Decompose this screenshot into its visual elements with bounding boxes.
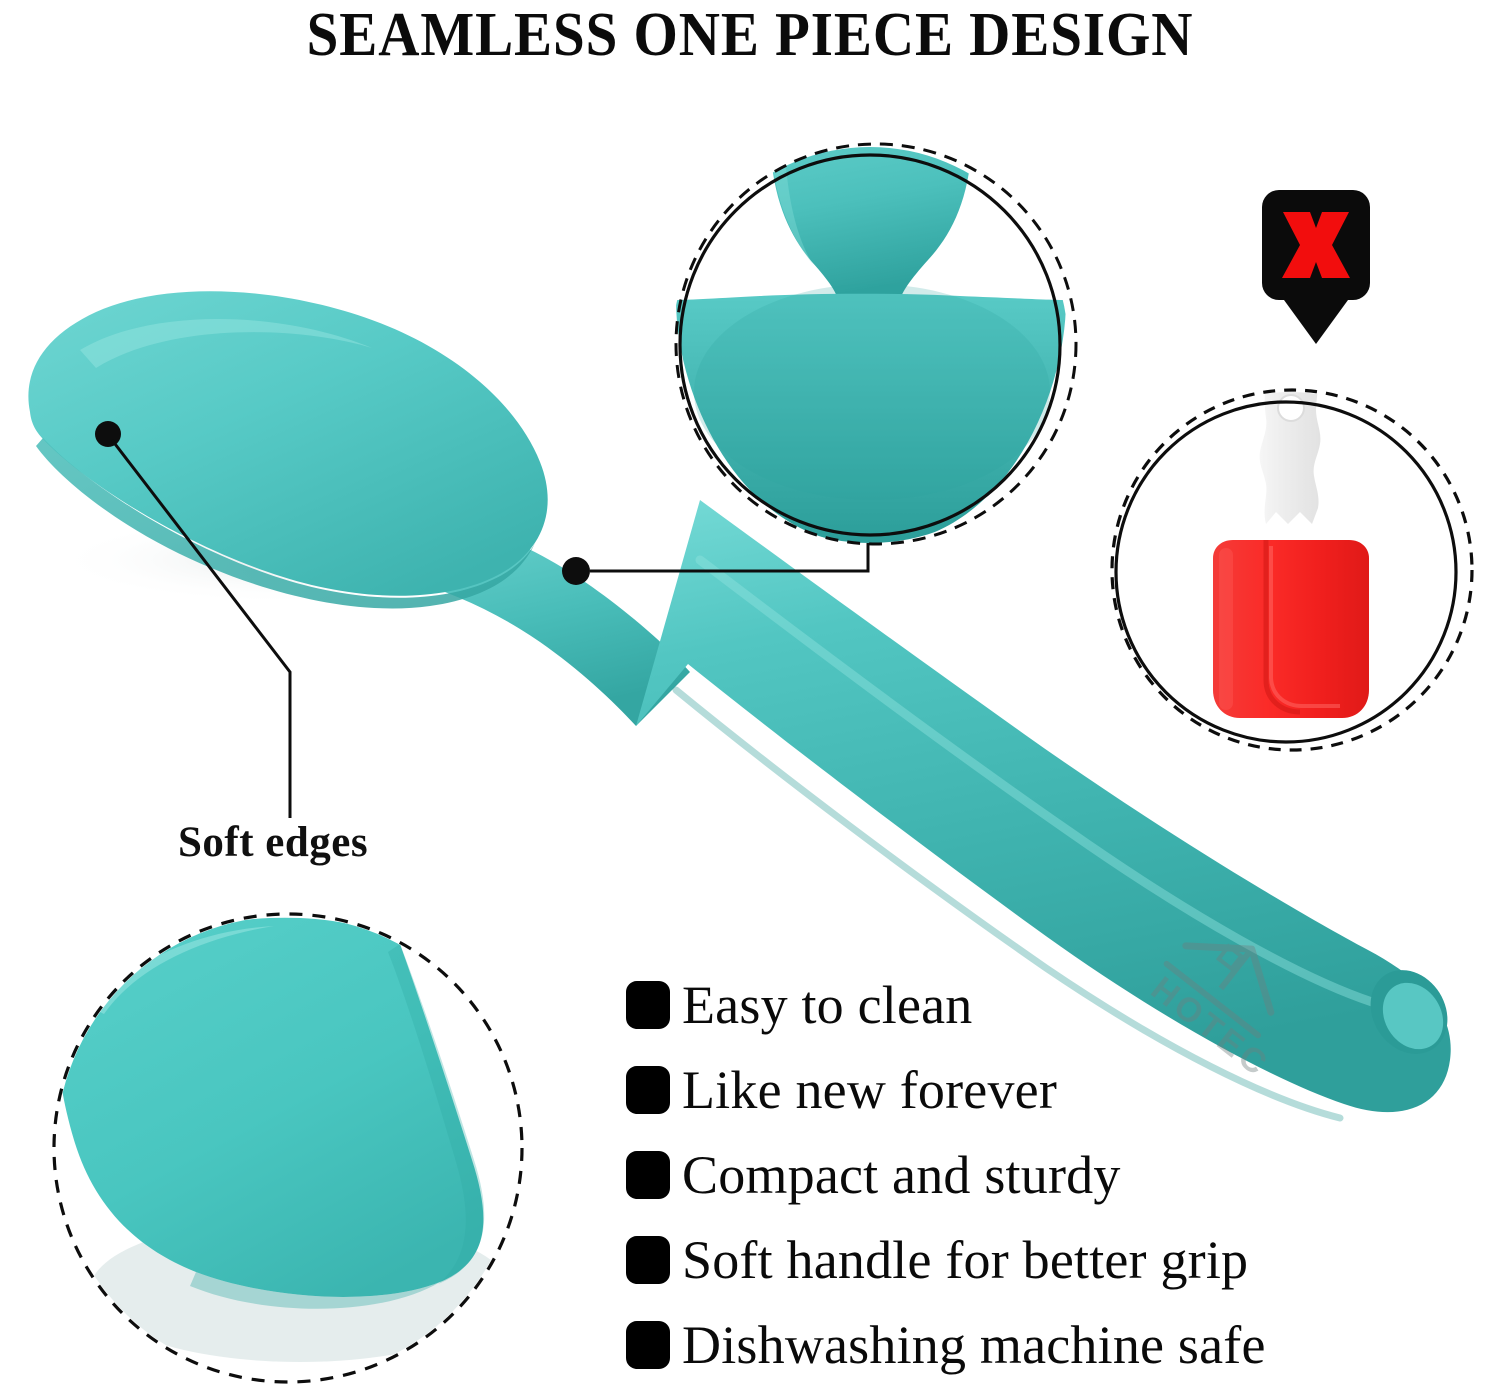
list-item: Easy to clean <box>626 962 1386 1047</box>
pin-arrow <box>1284 300 1348 344</box>
feature-list: Easy to clean Like new forever Compact a… <box>626 962 1386 1385</box>
x-warning-pin <box>1262 190 1370 344</box>
soft-edges-anchor-dot <box>95 421 121 447</box>
list-item: Like new forever <box>626 1047 1386 1132</box>
soft-edges-label: Soft edges <box>178 818 368 867</box>
bad-design-callout <box>1105 370 1475 755</box>
seamless-junction-callout <box>672 120 1076 545</box>
seamless-junction-image <box>672 120 1068 545</box>
bad-design-image <box>1105 370 1475 755</box>
feature-label: Like new forever <box>682 1063 1057 1117</box>
soft-edge-callout <box>50 910 530 1385</box>
list-item: Dishwashing machine safe <box>626 1302 1386 1385</box>
rounded-square-bullet-icon <box>626 1321 670 1369</box>
feature-label: Compact and sturdy <box>682 1148 1121 1202</box>
feature-label: Dishwashing machine safe <box>682 1318 1266 1372</box>
rounded-square-bullet-icon <box>626 981 670 1029</box>
rounded-square-bullet-icon <box>626 1066 670 1114</box>
rounded-square-bullet-icon <box>626 1236 670 1284</box>
junction-anchor-dot <box>562 557 590 585</box>
detached-red-head <box>1213 540 1369 718</box>
rounded-square-bullet-icon <box>626 1151 670 1199</box>
feature-label: Soft handle for better grip <box>682 1233 1248 1287</box>
feature-label: Easy to clean <box>682 978 972 1032</box>
soft-edge-image <box>50 910 530 1385</box>
list-item: Compact and sturdy <box>626 1132 1386 1217</box>
list-item: Soft handle for better grip <box>626 1217 1386 1302</box>
infographic-canvas: SEAMLESS ONE PIECE DESIGN <box>0 0 1500 1385</box>
